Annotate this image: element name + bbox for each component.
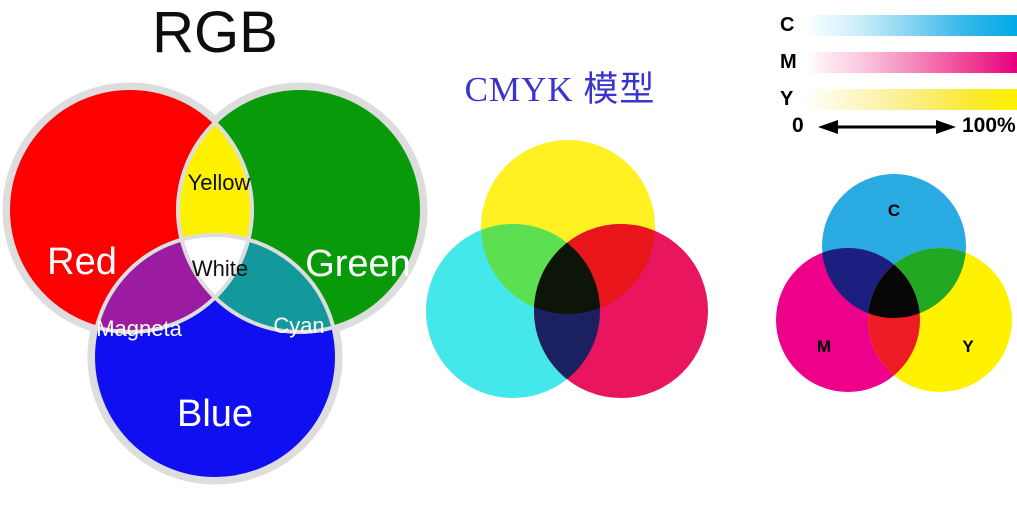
- rgb-label-cyan: Cyan: [273, 313, 324, 338]
- ink-bar-row-magenta: M: [780, 49, 1017, 75]
- rgb-label-blue: Blue: [177, 393, 253, 435]
- ink-bar-row-yellow: Y: [780, 86, 1017, 112]
- ink-scale-axis: 0 100%: [780, 112, 1017, 140]
- ink-scale-max-label: 100%: [962, 112, 1016, 140]
- ink-bar-letter-y: Y: [780, 86, 804, 112]
- rgb-label-magneta: Magneta: [96, 316, 182, 341]
- rgb-venn-diagram: Red Green Blue Yellow White Magneta Cyan: [0, 62, 430, 502]
- cmyk-venn-diagram: [425, 125, 725, 425]
- cmyk-color-model-panel: CMYK 模型: [420, 0, 740, 522]
- ink-bar-letter-c: C: [780, 12, 804, 38]
- cmy-venn-diagram: C M Y: [772, 160, 1014, 410]
- cmyk-title: CMYK 模型: [420, 72, 700, 107]
- ink-scale-min-label: 0: [792, 112, 804, 140]
- double-arrow-icon: [818, 117, 956, 137]
- cmy-label-m: M: [817, 337, 831, 356]
- cmy-ink-panel: C M Y 0 100%: [762, 0, 1017, 522]
- ink-gradient-yellow: [806, 89, 1017, 110]
- cmy-label-c: C: [888, 201, 900, 220]
- ink-gradient-cyan: [806, 15, 1017, 36]
- ink-bar-letter-m: M: [780, 49, 804, 75]
- rgb-title: RGB: [0, 4, 430, 62]
- cmy-label-y: Y: [962, 337, 974, 356]
- rgb-label-red: Red: [47, 241, 117, 283]
- rgb-label-green: Green: [305, 243, 411, 285]
- rgb-color-model-panel: RGB: [0, 0, 430, 522]
- ink-bar-row-cyan: C: [780, 12, 1017, 38]
- rgb-label-yellow: Yellow: [188, 170, 251, 195]
- rgb-label-white: White: [192, 256, 248, 281]
- ink-gradient-magenta: [806, 52, 1017, 73]
- cmy-ink-scale: C M Y 0 100%: [780, 12, 1017, 134]
